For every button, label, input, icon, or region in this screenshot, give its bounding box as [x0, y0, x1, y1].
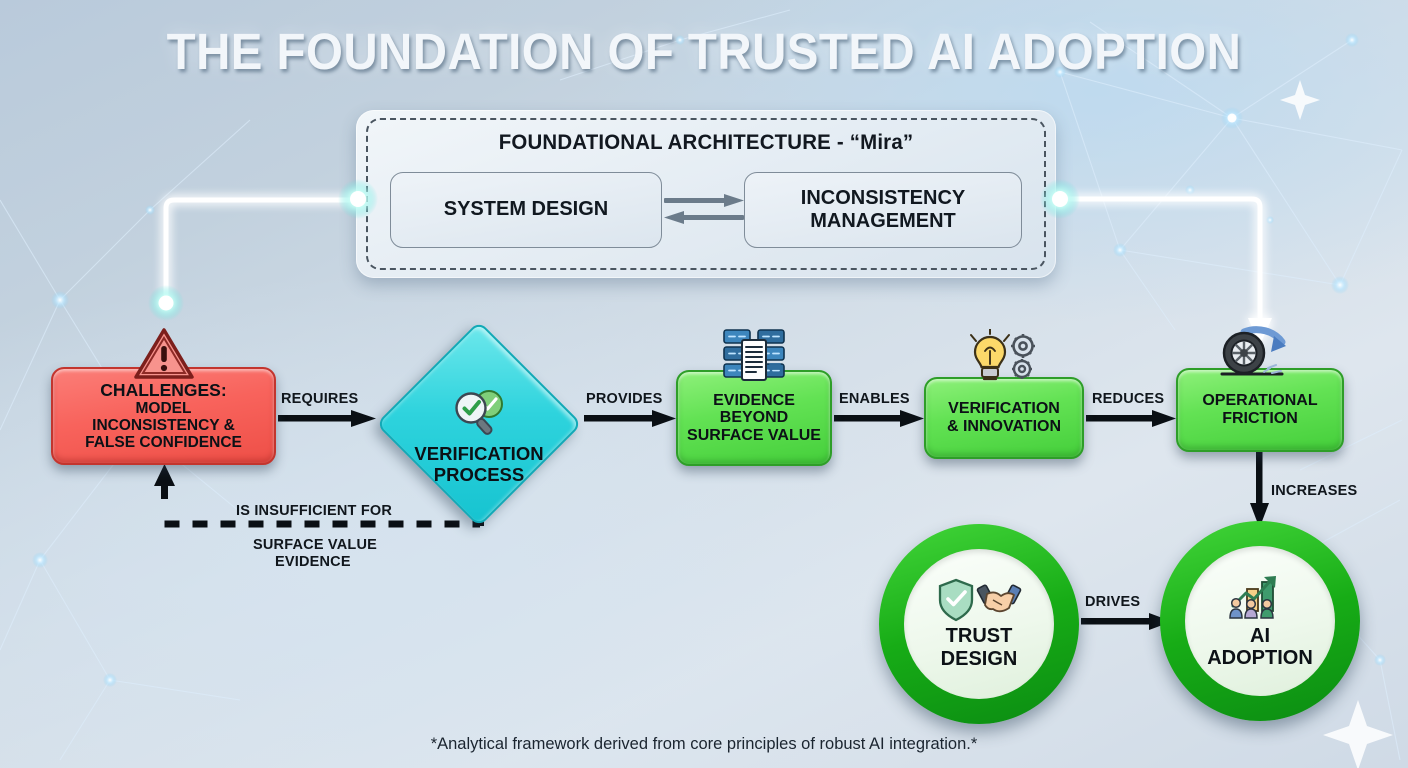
node-challenges-line3: INCONSISTENCY &	[92, 417, 235, 434]
architecture-heading: FOUNDATIONAL ARCHITECTURE - “Mira”	[383, 130, 1029, 155]
node-friction-line2: FRICTION	[1222, 410, 1298, 428]
node-verification-process[interactable]: VERIFICATION PROCESS	[376, 321, 582, 527]
architecture-bidirectional-arrows	[662, 188, 746, 232]
connector-label-provides: PROVIDES	[586, 391, 663, 407]
node-evidence-line3: SURFACE VALUE	[687, 427, 821, 445]
arch-box-system-design[interactable]: SYSTEM DESIGN	[390, 172, 662, 248]
node-challenges-line2: MODEL	[136, 400, 192, 417]
node-operational-friction[interactable]: OPERATIONAL FRICTION	[1176, 368, 1344, 452]
connector-label-increases: INCREASES	[1271, 483, 1357, 499]
node-challenges-line4: FALSE CONFIDENCE	[85, 434, 242, 451]
connector-label-enables: ENABLES	[839, 391, 910, 407]
node-trust-line1: TRUST	[946, 625, 1013, 647]
node-ai-adoption[interactable]: AI ADOPTION	[1160, 521, 1360, 721]
connector-label-requires: REQUIRES	[281, 391, 358, 407]
node-challenges-line1: CHALLENGES:	[100, 381, 226, 400]
page-title: THE FOUNDATION OF TRUSTED AI ADOPTION	[49, 22, 1358, 81]
server-document-icon	[714, 328, 794, 384]
warning-triangle-icon	[133, 327, 195, 381]
node-evidence-line2: BEYOND	[720, 409, 788, 427]
growth-chart-people-icon	[1223, 573, 1297, 623]
arch-box-inconsistency-management[interactable]: INCONSISTENCY MANAGEMENT	[744, 172, 1022, 248]
node-challenges[interactable]: CHALLENGES: MODEL INCONSISTENCY & FALSE …	[51, 367, 276, 465]
node-evidence-line1: EVIDENCE	[713, 392, 795, 410]
feedback-label-surface-value: SURFACE VALUE	[253, 537, 377, 553]
tire-friction-icon	[1214, 322, 1306, 382]
node-innovation-line2: & INNOVATION	[947, 418, 1061, 436]
node-verification-line1: VERIFICATION	[414, 444, 543, 465]
connector-label-reduces: REDUCES	[1092, 391, 1164, 407]
connector-label-drives: DRIVES	[1085, 594, 1140, 610]
node-verification-line2: PROCESS	[434, 465, 524, 486]
node-adoption-line1: AI	[1250, 625, 1270, 647]
node-trust-line2: DESIGN	[941, 648, 1018, 670]
feedback-label-top: IS INSUFFICIENT FOR	[236, 503, 392, 519]
lightbulb-gears-icon	[960, 329, 1048, 387]
infographic-canvas: THE FOUNDATION OF TRUSTED AI ADOPTION FO…	[0, 0, 1408, 768]
magnifier-check-icon	[449, 388, 509, 440]
node-trust-design[interactable]: TRUST DESIGN	[879, 524, 1079, 724]
node-evidence-beyond-surface-value[interactable]: EVIDENCE BEYOND SURFACE VALUE	[676, 370, 832, 466]
footer-note: *Analytical framework derived from core …	[0, 735, 1408, 754]
node-verification-and-innovation[interactable]: VERIFICATION & INNOVATION	[924, 377, 1084, 459]
node-innovation-line1: VERIFICATION	[948, 400, 1060, 418]
node-adoption-line2: ADOPTION	[1207, 647, 1313, 669]
shield-handshake-icon	[936, 578, 1022, 622]
feedback-label-evidence: EVIDENCE	[275, 554, 351, 570]
node-friction-line1: OPERATIONAL	[1202, 392, 1317, 410]
